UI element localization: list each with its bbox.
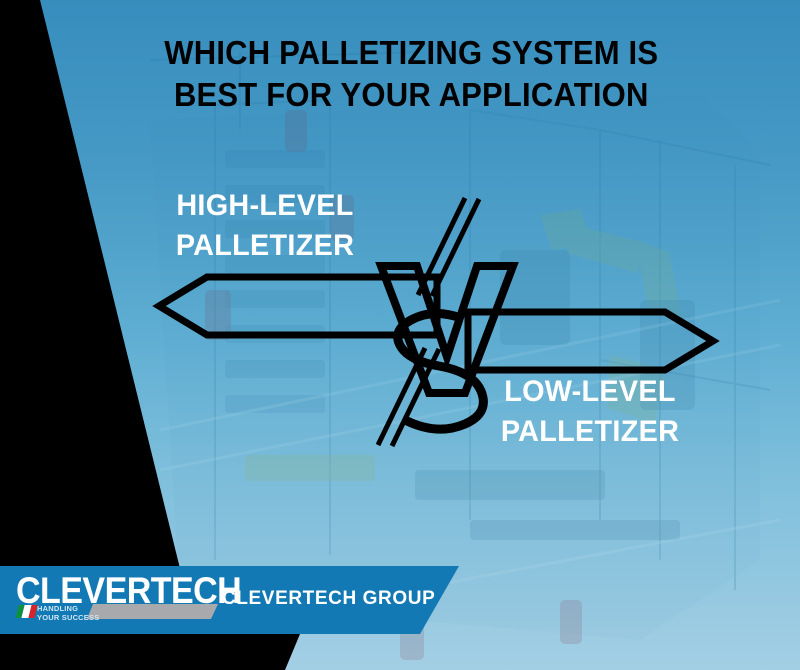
label-low-level-line-2: PALLETIZER [475,412,705,452]
italian-flag-icon [15,605,37,618]
label-low-level-line-1: LOW-LEVEL [475,372,705,412]
right-arrow-shape [468,312,713,370]
brand-tagline-line-2: YOUR SUCCESS [37,613,99,622]
bottom-black-wedge [0,634,300,670]
poster-canvas: WHICH PALLETIZING SYSTEM IS BEST FOR YOU… [0,0,800,670]
label-high-level-palletizer: HIGH-LEVEL PALLETIZER [157,186,374,266]
label-low-level-palletizer: LOW-LEVEL PALLETIZER [475,372,705,452]
brand-group-name: CLEVERTECH GROUP [222,588,435,610]
footer-logo-bar: CLEVERTECH CLEVERTECH GROUP HANDLING YOU… [0,566,470,634]
brand-tagline: HANDLING YOUR SUCCESS [37,604,99,622]
versus-slash-marks [378,198,479,446]
brand-tagline-line-1: HANDLING [37,604,99,613]
label-high-level-line-2: PALLETIZER [157,226,374,266]
brand-grey-accent-bar [87,604,218,619]
label-high-level-line-1: HIGH-LEVEL [157,186,374,226]
